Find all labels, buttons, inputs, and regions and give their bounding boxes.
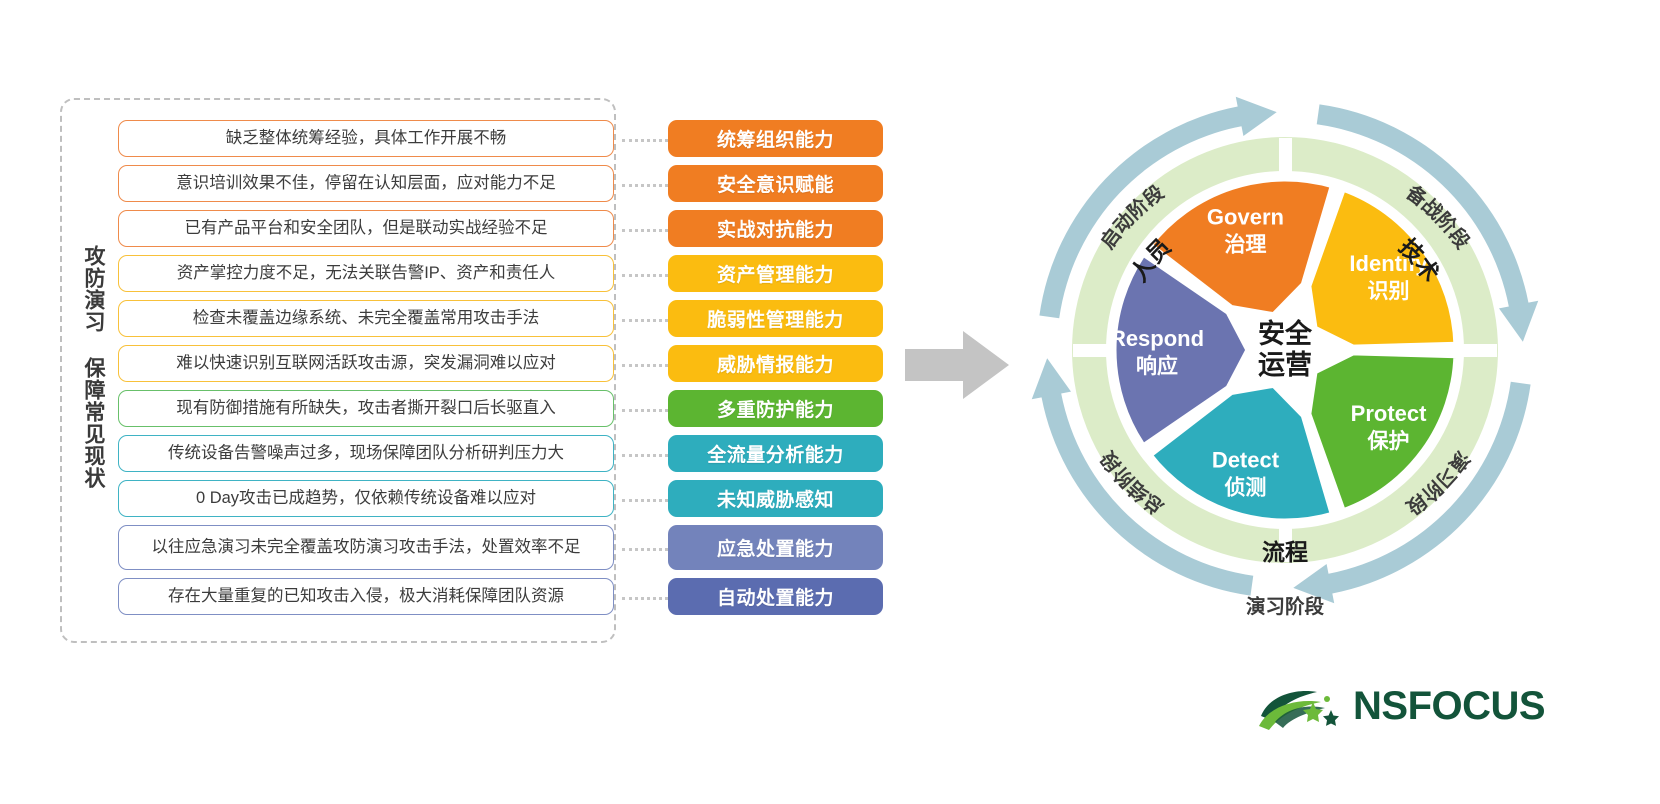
petal-label-cn: 治理 xyxy=(1224,232,1266,256)
panel-vertical-title: 攻防演习 保障常见现状 xyxy=(70,245,104,489)
slide-canvas: 攻防演习 保障常见现状 缺乏整体统筹经验，具体工作开展不畅意识培训效果不佳，停留… xyxy=(0,0,1660,804)
status-row-text: 检查未覆盖边缘系统、未完全覆盖常用攻击手法 xyxy=(193,309,540,328)
petal-label-cn: 响应 xyxy=(1136,354,1178,378)
capability-badge[interactable]: 实战对抗能力 xyxy=(668,210,883,247)
capability-badge[interactable]: 资产管理能力 xyxy=(668,255,883,292)
petal-label-en: Respond xyxy=(1110,326,1204,351)
connector-line xyxy=(622,454,668,457)
status-row-text: 难以快速识别互联网活跃攻击源，突发漏洞难以应对 xyxy=(176,354,556,373)
status-row: 检查未覆盖边缘系统、未完全覆盖常用攻击手法 xyxy=(118,300,614,337)
capability-badge[interactable]: 应急处置能力 xyxy=(668,525,883,570)
nsfocus-emblem-icon xyxy=(1255,682,1351,732)
status-row: 0 Day攻击已成趋势，仅依赖传统设备难以应对 xyxy=(118,480,614,517)
status-row: 缺乏整体统筹经验，具体工作开展不畅 xyxy=(118,120,614,157)
connector-line xyxy=(622,184,668,187)
status-row: 存在大量重复的已知攻击入侵，极大消耗保障团队资源 xyxy=(118,578,614,615)
nsfocus-logo: NSFOCUS xyxy=(1255,678,1555,736)
capability-badge[interactable]: 脆弱性管理能力 xyxy=(668,300,883,337)
petal-label-cn: 识别 xyxy=(1368,280,1410,303)
status-row: 已有产品平台和安全团队，但是联动实战经验不足 xyxy=(118,210,614,247)
status-row: 意识培训效果不佳，停留在认知层面，应对能力不足 xyxy=(118,165,614,202)
connector-line xyxy=(622,409,668,412)
petal-label-cn: 侦测 xyxy=(1224,477,1266,500)
status-row: 现有防御措施有所缺失，攻击者撕开裂口后长驱直入 xyxy=(118,390,614,427)
capability-badge[interactable]: 自动处置能力 xyxy=(668,578,883,615)
capability-badge[interactable]: 多重防护能力 xyxy=(668,390,883,427)
status-row-text: 已有产品平台和安全团队，但是联动实战经验不足 xyxy=(185,219,548,238)
connector-line xyxy=(622,139,668,142)
status-row-text: 资产掌控力度不足，无法关联告警IP、资产和责任人 xyxy=(177,264,556,283)
center-label-line2: 运营 xyxy=(1258,350,1312,380)
status-row-text: 以往应急演习未完全覆盖攻防演习攻击手法，处置效率不足 xyxy=(152,538,581,557)
connector-line xyxy=(622,548,668,551)
status-row: 难以快速识别互联网活跃攻击源，突发漏洞难以应对 xyxy=(118,345,614,382)
bottom-phase-label: 演习阶段 xyxy=(1246,595,1325,618)
capability-badge[interactable]: 威胁情报能力 xyxy=(668,345,883,382)
status-row-text: 现有防御措施有所缺失，攻击者撕开裂口后长驱直入 xyxy=(176,399,556,418)
petal-label-en: Protect xyxy=(1351,401,1427,426)
center-label-line1: 安全 xyxy=(1258,318,1313,349)
status-row-text: 0 Day攻击已成趋势，仅依赖传统设备难以应对 xyxy=(196,489,536,508)
connector-line xyxy=(622,229,668,232)
capability-badge[interactable]: 统筹组织能力 xyxy=(668,120,883,157)
petal-label-en: Detect xyxy=(1212,448,1280,473)
connector-line xyxy=(622,499,668,502)
petal-label-en: Govern xyxy=(1207,204,1284,229)
status-row: 传统设备告警噪声过多，现场保障团队分析研判压力大 xyxy=(118,435,614,472)
connector-line xyxy=(622,364,668,367)
wheel-svg: Govern治理Identify识别Protect保护Detect侦测Respo… xyxy=(975,60,1595,650)
capability-badge[interactable]: 全流量分析能力 xyxy=(668,435,883,472)
petal-label-cn: 保护 xyxy=(1367,429,1410,453)
status-row-text: 存在大量重复的已知攻击入侵，极大消耗保障团队资源 xyxy=(168,587,564,606)
capability-badge[interactable]: 安全意识赋能 xyxy=(668,165,883,202)
status-row-text: 传统设备告警噪声过多，现场保障团队分析研判压力大 xyxy=(168,444,564,463)
status-row-list: 缺乏整体统筹经验，具体工作开展不畅意识培训效果不佳，停留在认知层面，应对能力不足… xyxy=(118,120,614,623)
capability-badge-list: 统筹组织能力安全意识赋能实战对抗能力资产管理能力脆弱性管理能力威胁情报能力多重防… xyxy=(668,120,883,623)
inner-label-process: 流程 xyxy=(1262,539,1308,565)
connector-line xyxy=(622,319,668,322)
connector-line xyxy=(622,597,668,600)
security-operations-wheel: Govern治理Identify识别Protect保护Detect侦测Respo… xyxy=(975,60,1595,650)
connector-line xyxy=(622,274,668,277)
status-row: 以往应急演习未完全覆盖攻防演习攻击手法，处置效率不足 xyxy=(118,525,614,570)
capability-badge[interactable]: 未知威胁感知 xyxy=(668,480,883,517)
connector-lines xyxy=(622,120,668,640)
nsfocus-wordmark: NSFOCUS xyxy=(1353,684,1545,729)
status-row-text: 缺乏整体统筹经验，具体工作开展不畅 xyxy=(226,129,507,148)
status-row: 资产掌控力度不足，无法关联告警IP、资产和责任人 xyxy=(118,255,614,292)
status-row-text: 意识培训效果不佳，停留在认知层面，应对能力不足 xyxy=(176,174,556,193)
